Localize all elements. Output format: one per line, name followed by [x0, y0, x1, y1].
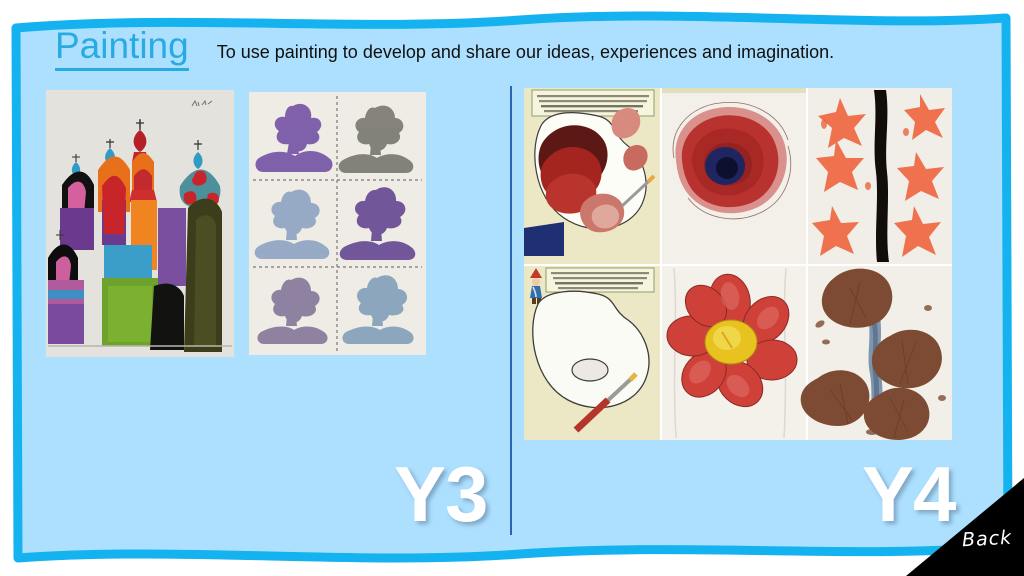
artwork-cathedral-painting[interactable]	[46, 90, 234, 357]
page-title: Painting	[55, 27, 189, 71]
slide-root: Painting To use painting to develop and …	[0, 0, 1024, 576]
back-button[interactable]: Back	[906, 478, 1024, 576]
back-button-label: Back	[961, 527, 1012, 552]
year-label-y3: Y3	[394, 455, 487, 533]
lesson-objective: To use painting to develop and share our…	[217, 43, 834, 63]
panel-divider	[510, 86, 512, 535]
artwork-collage-y4[interactable]	[524, 88, 952, 440]
slide-header: Painting To use painting to develop and …	[55, 27, 834, 71]
artwork-symmetry-blot-prints[interactable]	[249, 92, 426, 355]
